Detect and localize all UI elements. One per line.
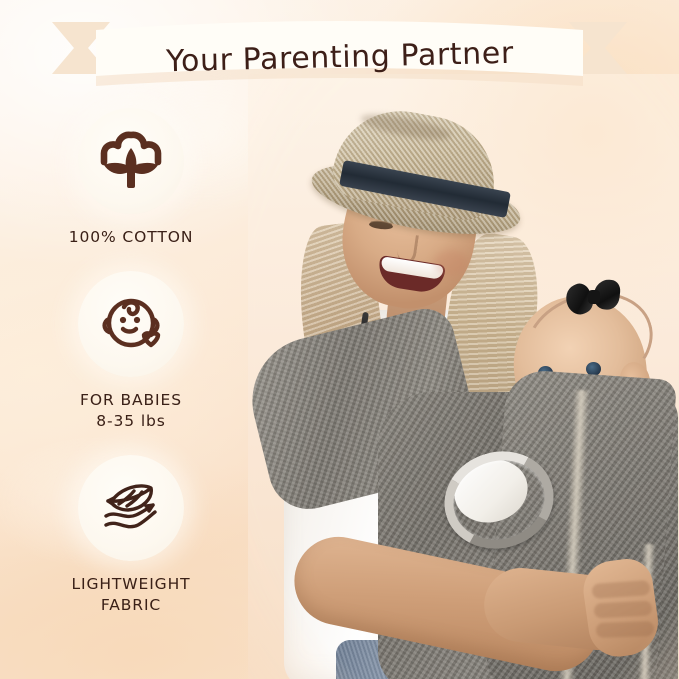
product-feature-poster: Your Parenting Partner xyxy=(0,0,679,679)
feature-label-line2: FABRIC xyxy=(26,595,236,615)
mother-finger xyxy=(596,621,654,638)
feature-label-line1: FOR BABIES xyxy=(80,391,182,409)
mother-cheek-blush xyxy=(434,250,468,276)
baby-bow-knot xyxy=(588,290,600,304)
feather-fabric-icon xyxy=(94,471,168,545)
cotton-boll-icon xyxy=(94,124,168,198)
feature-badge-circle xyxy=(78,455,184,561)
feature-label-line2: 8-35 lbs xyxy=(26,411,236,431)
feature-item-cotton: 100% COTTON xyxy=(26,108,236,247)
headline-title-wrap: Your Parenting Partner xyxy=(52,12,627,98)
headline-ribbon: Your Parenting Partner xyxy=(52,12,627,98)
mother-finger xyxy=(594,600,653,618)
feature-label-babies: FOR BABIES 8-35 lbs xyxy=(26,390,236,431)
page-title: Your Parenting Partner xyxy=(165,35,514,78)
feature-label-cotton: 100% COTTON xyxy=(26,227,236,247)
feature-item-lightweight: LIGHTWEIGHT FABRIC xyxy=(26,455,236,615)
feature-list: 100% COTTON xyxy=(26,108,236,635)
feature-badge-circle xyxy=(78,108,184,214)
feature-item-babies: FOR BABIES 8-35 lbs xyxy=(26,271,236,431)
baby-face-icon xyxy=(94,287,168,361)
feature-badge-circle xyxy=(78,271,184,377)
lifestyle-photo xyxy=(248,74,679,679)
feature-label-lightweight: LIGHTWEIGHT FABRIC xyxy=(26,574,236,615)
feature-label-line1: LIGHTWEIGHT xyxy=(71,575,190,593)
feature-label-line1: 100% COTTON xyxy=(69,228,194,246)
